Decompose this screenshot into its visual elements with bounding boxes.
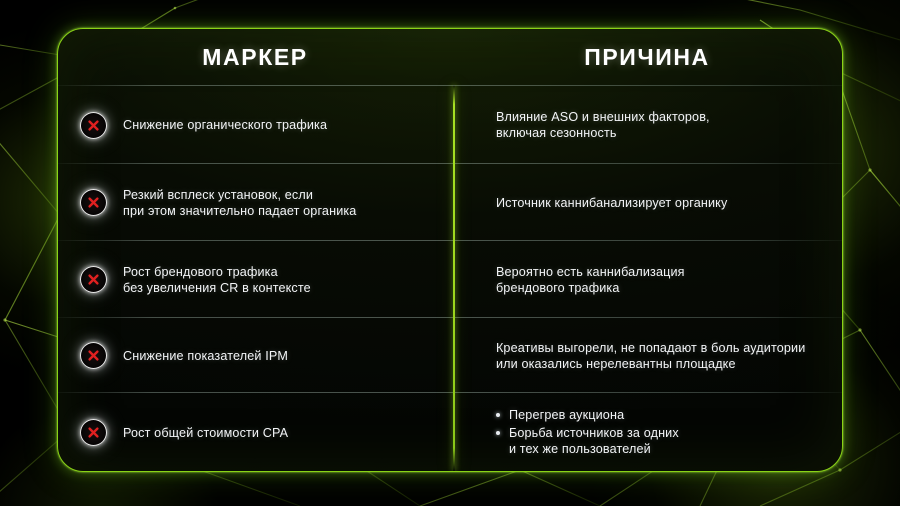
reason-bullet-item: Перегрев аукциона bbox=[496, 407, 679, 423]
table-body: Снижение органического трафика Влияние A… bbox=[58, 86, 842, 472]
reason-cell: Креативы выгорели, не попадают в боль ау… bbox=[452, 318, 842, 393]
reason-cell: Влияние ASO и внешних факторов, включая … bbox=[452, 86, 842, 164]
table-header-row: МАРКЕР ПРИЧИНА bbox=[58, 29, 842, 86]
reason-label: Вероятно есть каннибализация брендового … bbox=[496, 264, 685, 296]
column-header-reason: ПРИЧИНА bbox=[452, 29, 842, 86]
reason-label: Влияние ASO и внешних факторов, включая … bbox=[496, 109, 710, 141]
marker-label: Снижение показателей IPM bbox=[123, 348, 288, 364]
table-row: Рост общей стоимости CPA Перегрев аукцио… bbox=[58, 393, 842, 472]
marker-label: Резкий всплеск установок, если при этом … bbox=[123, 187, 356, 219]
table-row: Рост брендового трафика без увеличения C… bbox=[58, 241, 842, 318]
marker-label: Рост брендового трафика без увеличения C… bbox=[123, 264, 311, 296]
reason-cell: Источник каннибанализирует органику bbox=[452, 164, 842, 241]
red-x-circle-icon bbox=[80, 189, 107, 216]
table-row: Снижение органического трафика Влияние A… bbox=[58, 86, 842, 164]
reason-cell: Вероятно есть каннибализация брендового … bbox=[452, 241, 842, 318]
reason-cell: Перегрев аукциона Борьба источников за о… bbox=[452, 393, 842, 472]
marker-cell: Рост общей стоимости CPA bbox=[58, 393, 452, 472]
red-x-circle-icon bbox=[80, 112, 107, 139]
red-x-circle-icon bbox=[80, 342, 107, 369]
reason-label: Источник каннибанализирует органику bbox=[496, 195, 727, 211]
red-x-circle-icon bbox=[80, 419, 107, 446]
reason-label: Креативы выгорели, не попадают в боль ау… bbox=[496, 340, 805, 372]
reason-bullet-list: Перегрев аукциона Борьба источников за о… bbox=[496, 407, 679, 459]
marker-cell: Снижение показателей IPM bbox=[58, 318, 452, 393]
marker-cell: Снижение органического трафика bbox=[58, 86, 452, 164]
table-row: Снижение показателей IPM Креативы выгоре… bbox=[58, 318, 842, 393]
card-inner: МАРКЕР ПРИЧИНА Снижение органического тр… bbox=[58, 29, 842, 471]
reason-bullet-item: Борьба источников за одних и тех же поль… bbox=[496, 425, 679, 457]
marker-label: Снижение органического трафика bbox=[123, 117, 327, 133]
comparison-table-card: МАРКЕР ПРИЧИНА Снижение органического тр… bbox=[57, 28, 843, 472]
column-header-marker: МАРКЕР bbox=[58, 29, 452, 86]
red-x-circle-icon bbox=[80, 266, 107, 293]
marker-cell: Рост брендового трафика без увеличения C… bbox=[58, 241, 452, 318]
table-row: Резкий всплеск установок, если при этом … bbox=[58, 164, 842, 241]
marker-cell: Резкий всплеск установок, если при этом … bbox=[58, 164, 452, 241]
marker-label: Рост общей стоимости CPA bbox=[123, 425, 288, 441]
